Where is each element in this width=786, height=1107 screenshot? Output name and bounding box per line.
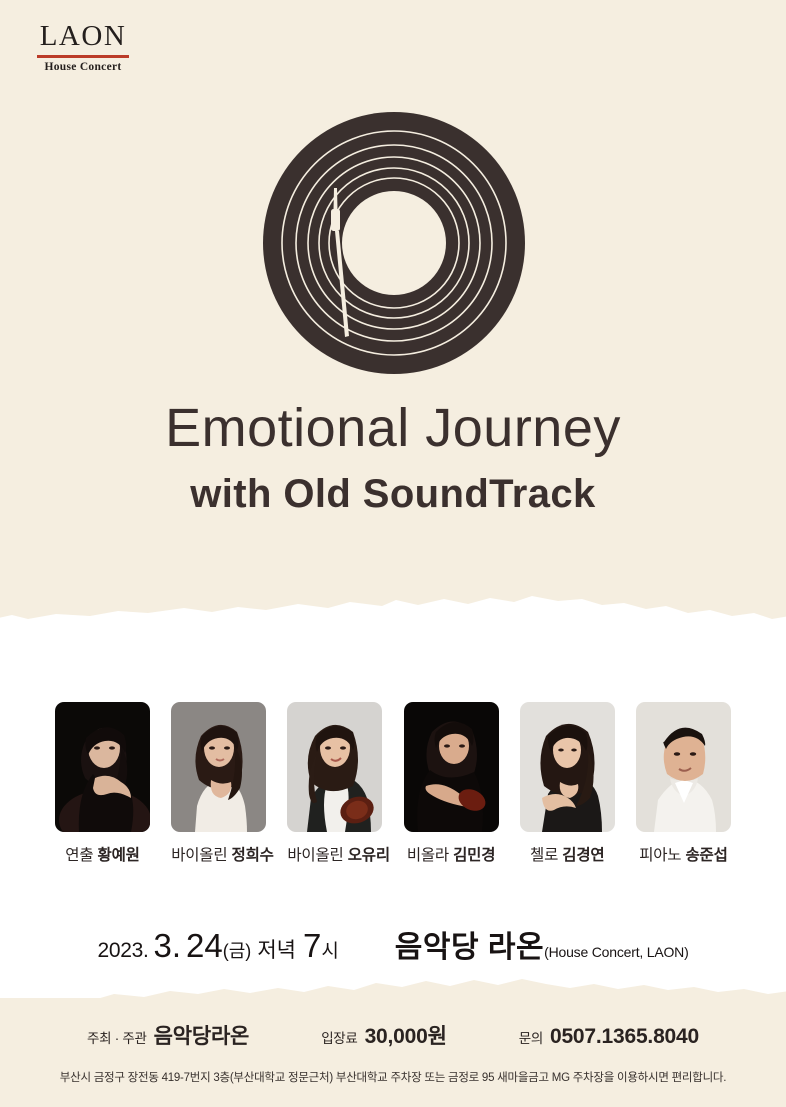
concert-poster: LAON House Concert Emotional Journey <box>0 0 786 1107</box>
performer-card: 비올라 김민경 <box>404 702 499 865</box>
date-year: 2023. <box>97 939 148 963</box>
performer-role: 연출 <box>65 847 93 864</box>
logo-rule <box>37 55 129 58</box>
performer-name: 비올라 김민경 <box>404 843 499 865</box>
venue: 음악당 라온 (House Concert, LAON) <box>395 922 689 966</box>
performer-card: 피아노 송준섭 <box>636 702 731 865</box>
performer-person: 김민경 <box>453 847 495 864</box>
performer-role: 바이올린 <box>171 847 227 864</box>
title-line-1: Emotional Journey <box>0 398 786 458</box>
time-word: 저녁 <box>257 934 296 964</box>
date-month: 3. <box>154 927 182 965</box>
performer-card: 바이올린 오유리 <box>287 702 382 865</box>
footer-info-row: 주최 · 주관 음악당라온 입장료 30,000원 문의 0507.1365.8… <box>0 1020 786 1050</box>
poster-title: Emotional Journey with Old SoundTrack <box>0 398 786 518</box>
footer-value: 30,000원 <box>365 1020 447 1050</box>
performer-role: 바이올린 <box>287 847 343 864</box>
date-day: 24 <box>186 927 223 965</box>
footer-ticket-price: 입장료 30,000원 <box>321 1020 447 1050</box>
portrait-oh-yuri <box>287 702 382 832</box>
title-line-2: with Old SoundTrack <box>0 470 786 518</box>
performer-card: 연출 황예원 <box>55 702 150 865</box>
footer-contact: 문의 0507.1365.8040 <box>519 1025 699 1049</box>
performer-name: 피아노 송준섭 <box>636 843 731 865</box>
performer-person: 김경연 <box>562 847 604 864</box>
performer-person: 정희수 <box>232 847 274 864</box>
performer-person: 송준섭 <box>685 847 727 864</box>
schedule-venue-row: 2023. 3. 24 (금) 저녁 7 시 음악당 라온 (House Con… <box>0 922 786 966</box>
time-unit: 시 <box>321 936 338 963</box>
portrait-song-junseop <box>636 702 731 832</box>
portrait-kim-gyeongyeon <box>520 702 615 832</box>
venue-english: (House Concert, LAON) <box>544 944 688 960</box>
performer-card: 바이올린 정희수 <box>171 702 266 865</box>
footer-organizer: 주최 · 주관 음악당라온 <box>87 1020 249 1050</box>
venue-name: 음악당 라온 <box>395 922 544 966</box>
performer-list: 연출 황예원 바이올린 <box>55 702 731 865</box>
performer-role: 비올라 <box>407 847 449 864</box>
performer-card: 첼로 김경연 <box>520 702 615 865</box>
portrait-kim-mingyeong <box>404 702 499 832</box>
performer-person: 황예원 <box>98 847 140 864</box>
footer-value: 0507.1365.8040 <box>550 1025 699 1049</box>
vinyl-record-icon <box>263 112 525 374</box>
schedule-date: 2023. 3. 24 (금) 저녁 7 시 <box>97 927 338 965</box>
footer-label: 입장료 <box>321 1027 357 1047</box>
performer-name: 연출 황예원 <box>55 843 150 865</box>
performer-role: 피아노 <box>639 847 681 864</box>
date-weekday: (금) <box>223 937 252 963</box>
footer-label: 문의 <box>519 1027 543 1047</box>
footer-label: 주최 · 주관 <box>87 1027 147 1047</box>
portrait-hwang-yewon <box>55 702 150 832</box>
logo-wordmark: LAON <box>28 22 138 51</box>
logo-subtitle: House Concert <box>28 61 138 74</box>
performer-person: 오유리 <box>348 847 390 864</box>
footer-value: 음악당라온 <box>154 1020 250 1050</box>
bottom-background-panel <box>0 998 786 1107</box>
performer-name: 바이올린 오유리 <box>287 843 382 865</box>
performer-name: 바이올린 정희수 <box>171 843 266 865</box>
venue-address: 부산시 금정구 장전동 419-7번지 3층(부산대학교 정문근처) 부산대학교… <box>0 1069 786 1085</box>
performer-role: 첼로 <box>530 847 558 864</box>
portrait-jeong-heesu <box>171 702 266 832</box>
performer-name: 첼로 김경연 <box>520 843 615 865</box>
laon-logo: LAON House Concert <box>28 22 138 74</box>
time-hour: 7 <box>303 927 321 965</box>
